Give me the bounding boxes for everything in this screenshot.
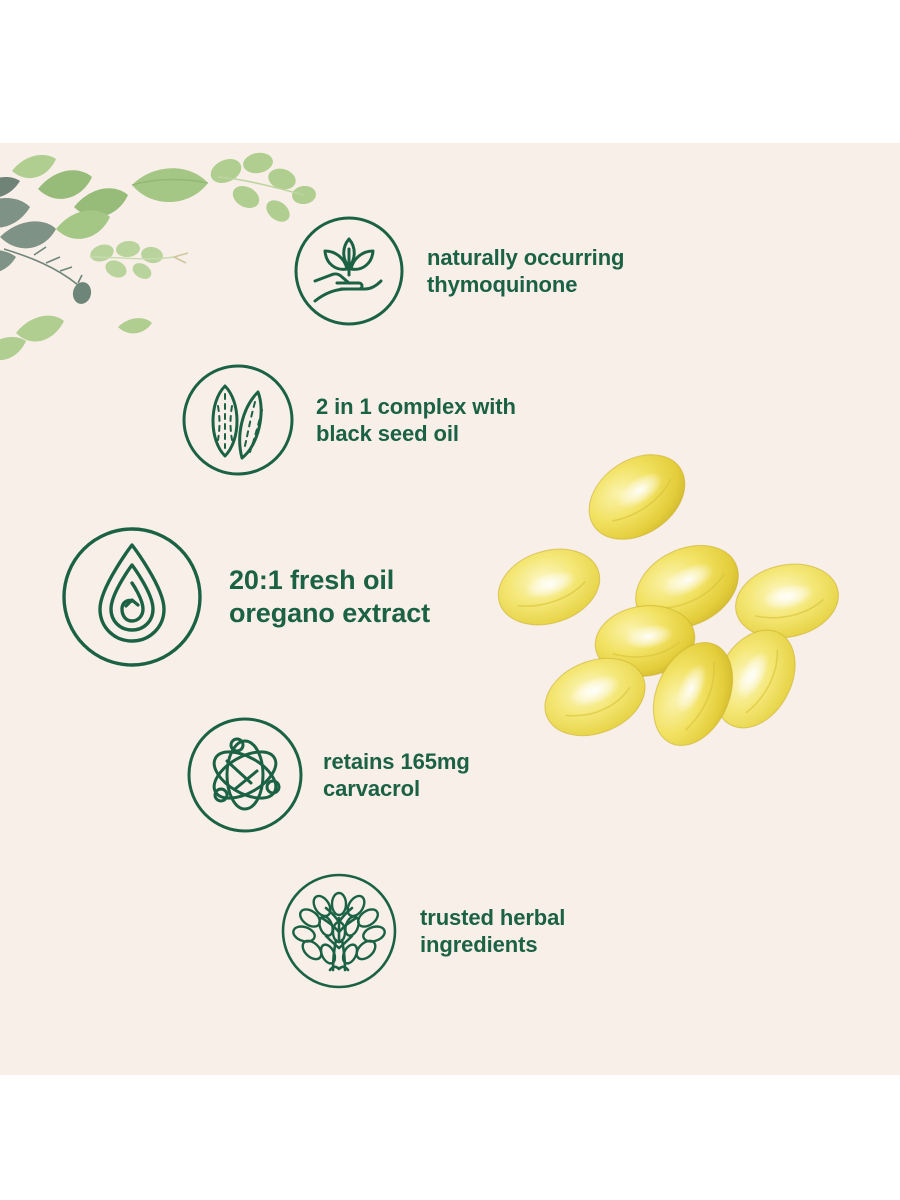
feature-row-herbal: trusted herbal ingredients [278, 870, 565, 992]
feature-row-thymoquinone: naturally occurring thymoquinone [293, 215, 624, 327]
softgel-capsule-cluster [497, 439, 857, 749]
feature-row-blackseed: 2 in 1 complex with black seed oil [180, 362, 516, 478]
feature-label-carvacrol: retains 165mg carvacrol [323, 748, 470, 803]
infographic-canvas: naturally occurring thymoquinone [0, 0, 900, 1200]
two-seeds-icon [180, 362, 296, 478]
hand-holding-plant-icon [293, 215, 405, 327]
feature-label-oregano: 20:1 fresh oil oregano extract [229, 564, 430, 631]
content-panel: naturally occurring thymoquinone [0, 143, 900, 1075]
feature-row-oregano: 20:1 fresh oil oregano extract [60, 525, 430, 669]
feature-label-herbal: trusted herbal ingredients [420, 904, 565, 959]
feature-row-carvacrol: retains 165mg carvacrol [185, 715, 470, 835]
watercolor-foliage-corner [0, 143, 322, 397]
molecule-atom-icon [185, 715, 305, 835]
oil-droplet-spiral-icon [60, 525, 204, 669]
feature-label-thymoquinone: naturally occurring thymoquinone [427, 244, 624, 299]
feature-label-blackseed: 2 in 1 complex with black seed oil [316, 393, 516, 448]
tree-icon [278, 870, 400, 992]
